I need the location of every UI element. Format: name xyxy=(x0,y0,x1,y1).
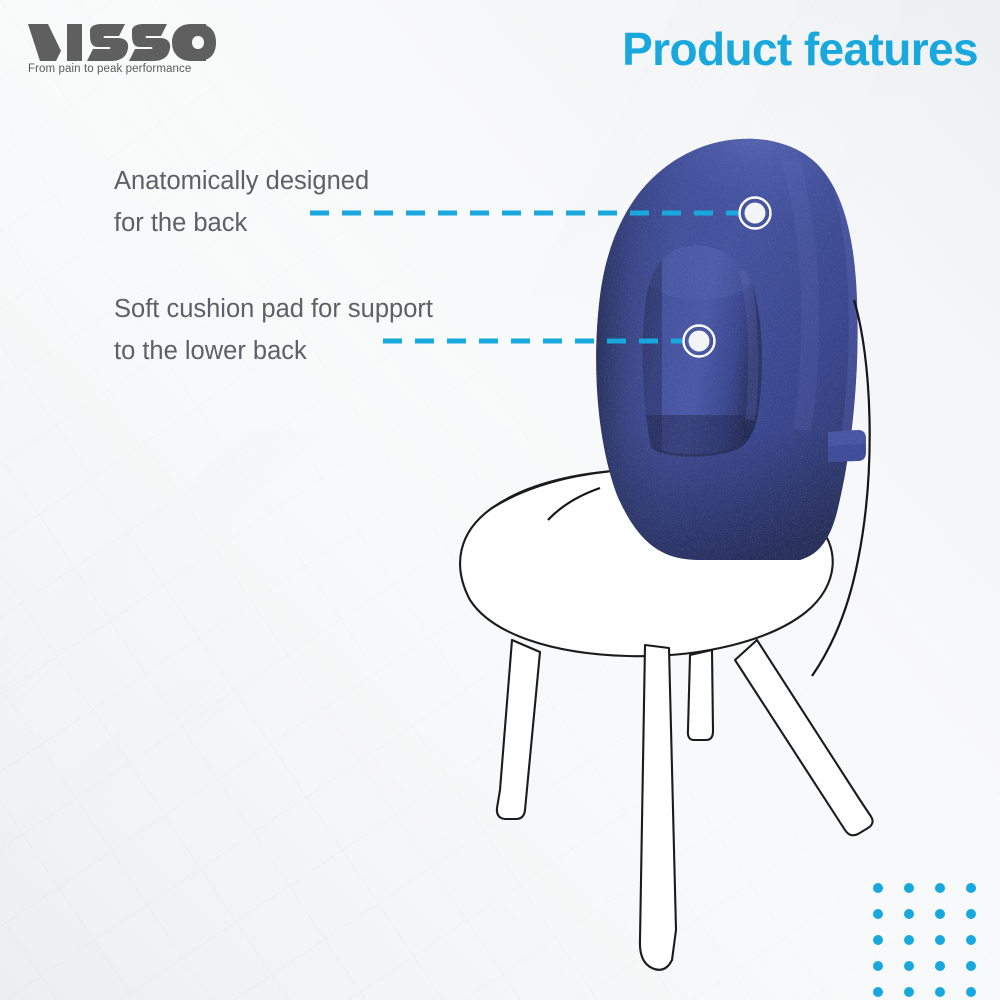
grid-dot xyxy=(935,961,945,971)
grid-dot xyxy=(873,987,883,997)
callout-2-line-1: Soft cushion pad for support xyxy=(114,288,433,330)
callout-marker-2[interactable] xyxy=(684,326,715,357)
callout-anatomically-designed: Anatomically designed for the back xyxy=(114,160,369,244)
poster-canvas: From pain to peak performance Product fe… xyxy=(0,0,1000,1000)
grid-dot xyxy=(873,909,883,919)
grid-dot xyxy=(873,961,883,971)
grid-dot xyxy=(873,883,883,893)
grid-dot xyxy=(904,961,914,971)
callout-soft-cushion-pad: Soft cushion pad for support to the lowe… xyxy=(114,288,433,372)
grid-dot xyxy=(935,987,945,997)
grid-dot xyxy=(966,909,976,919)
callout-1-line-1: Anatomically designed xyxy=(114,160,369,202)
grid-dot xyxy=(966,987,976,997)
dot-grid xyxy=(870,880,1000,1000)
callout-marker-1[interactable] xyxy=(740,198,771,229)
grid-dot xyxy=(935,883,945,893)
grid-dot xyxy=(904,883,914,893)
callout-2-line-2: to the lower back xyxy=(114,330,433,372)
grid-dot xyxy=(935,909,945,919)
callout-leaders xyxy=(0,0,1000,1000)
grid-dot xyxy=(904,987,914,997)
grid-dot xyxy=(904,909,914,919)
grid-dot xyxy=(966,961,976,971)
grid-dot xyxy=(966,883,976,893)
grid-dot xyxy=(904,935,914,945)
grid-dot xyxy=(966,935,976,945)
grid-dot xyxy=(935,935,945,945)
grid-dot xyxy=(873,935,883,945)
callout-1-line-2: for the back xyxy=(114,202,369,244)
